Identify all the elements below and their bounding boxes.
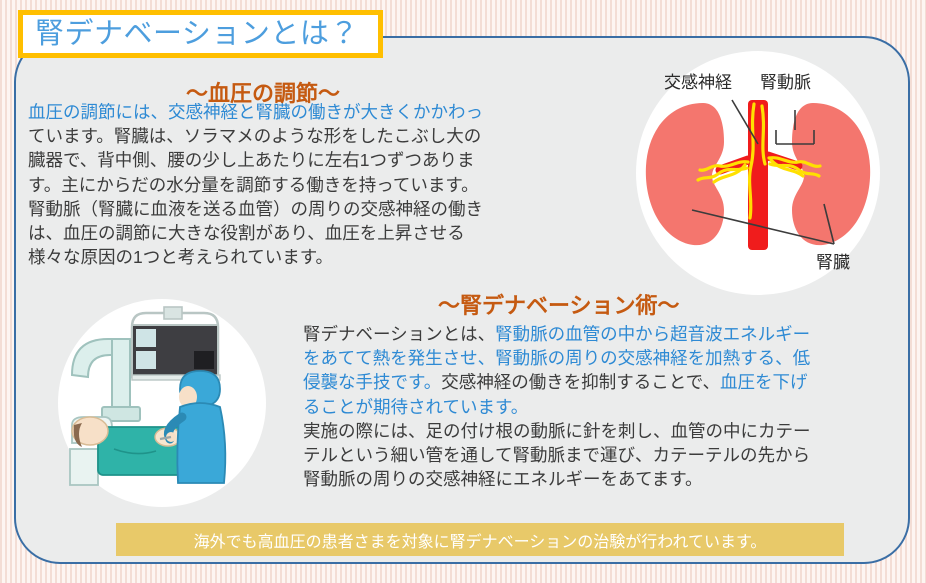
table-base [70,449,98,485]
paragraph-blood-pressure: 血圧の調節には、交感神経と腎臓の働きが大きくかかわっ ています。腎臓は、ソラマメ… [28,100,628,269]
kidney-anatomy-svg: 交感神経 腎動脈 腎臓 [608,48,908,298]
section-heading-denervation: 〜腎デナベーション術〜 [438,288,680,320]
paragraph-denervation: 腎デナベーションとは、腎動脈の血管の中から超音波エネルギー をあてて熱を発生させ… [303,322,913,491]
label-kidney: 腎臓 [816,253,850,272]
monitor-screen-2 [136,351,156,369]
monitor-screen-1 [136,329,156,347]
poster-title-box: 腎デナベーションとは？ [18,10,383,58]
label-sympathetic-nerve: 交感神経 [664,73,732,92]
footer-text: 海外でも高血圧の患者さまを対象に腎デナベーションの治験が行われています。 [194,528,767,552]
monitor-screen-3 [194,351,214,369]
text-run: 実施の際には、足の付け根の動脈に針を刺し、血管の中にカテー テルという細い管を通… [303,421,811,489]
text-run: ています。腎臓は、ソラマメのような形をしたこぶし大の 臓器で、背中側、腰の少し上… [28,126,483,267]
page-title: 腎デナベーションとは？ [35,20,359,49]
text-run: 血圧の調節には、交感神経と腎臓の働きが大きくかかわっ [28,102,483,122]
footer-banner: 海外でも高血圧の患者さまを対象に腎デナベーションの治験が行われています。 [116,523,844,556]
operating-room-figure [28,297,296,509]
label-renal-artery: 腎動脈 [760,73,811,92]
text-run: 腎デナベーションとは、 [303,324,495,344]
kidney-anatomy-figure: 交感神経 腎動脈 腎臓 [608,48,908,298]
poster-root: 腎デナベーションとは？ 〜血圧の調節〜 血圧の調節には、交感神経と腎臓の働きが大… [0,0,926,583]
text-run: 交感神経の働きを抑制することで、 [441,372,720,392]
operating-room-svg [28,297,296,509]
